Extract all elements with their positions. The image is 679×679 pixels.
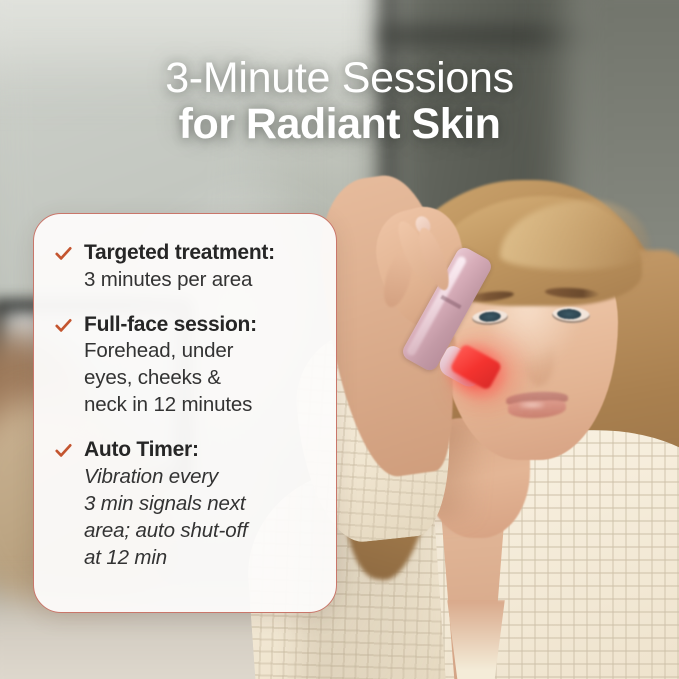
list-item-heading: Targeted treatment:	[84, 240, 318, 266]
list-item-heading: Full-face session:	[84, 312, 318, 338]
check-icon	[54, 316, 73, 335]
list-item-text: Targeted treatment: 3 minutes per area	[84, 240, 318, 293]
headline-line-2: for Radiant Skin	[0, 102, 679, 148]
list-item: Full-face session: Forehead, under eyes,…	[54, 312, 318, 419]
list-item: Auto Timer: Vibration every 3 min signal…	[54, 437, 318, 571]
list-item: Targeted treatment: 3 minutes per area	[54, 240, 318, 293]
check-icon	[54, 441, 73, 460]
list-item-text: Auto Timer: Vibration every 3 min signal…	[84, 437, 318, 571]
product-marketing-image: 3-Minute Sessions for Radiant Skin Targe…	[0, 0, 679, 679]
feature-list: Targeted treatment: 3 minutes per area F…	[54, 240, 318, 571]
list-item-heading: Auto Timer:	[84, 437, 318, 463]
feature-card: Targeted treatment: 3 minutes per area F…	[33, 213, 337, 613]
check-icon	[54, 244, 73, 263]
list-item-body: 3 minutes per area	[84, 266, 318, 293]
list-item-body: Forehead, under eyes, cheeks & neck in 1…	[84, 337, 318, 418]
page-title: 3-Minute Sessions for Radiant Skin	[0, 56, 679, 147]
headline-line-1: 3-Minute Sessions	[0, 56, 679, 102]
list-item-body: Vibration every 3 min signals next area;…	[84, 463, 318, 571]
list-item-text: Full-face session: Forehead, under eyes,…	[84, 312, 318, 419]
